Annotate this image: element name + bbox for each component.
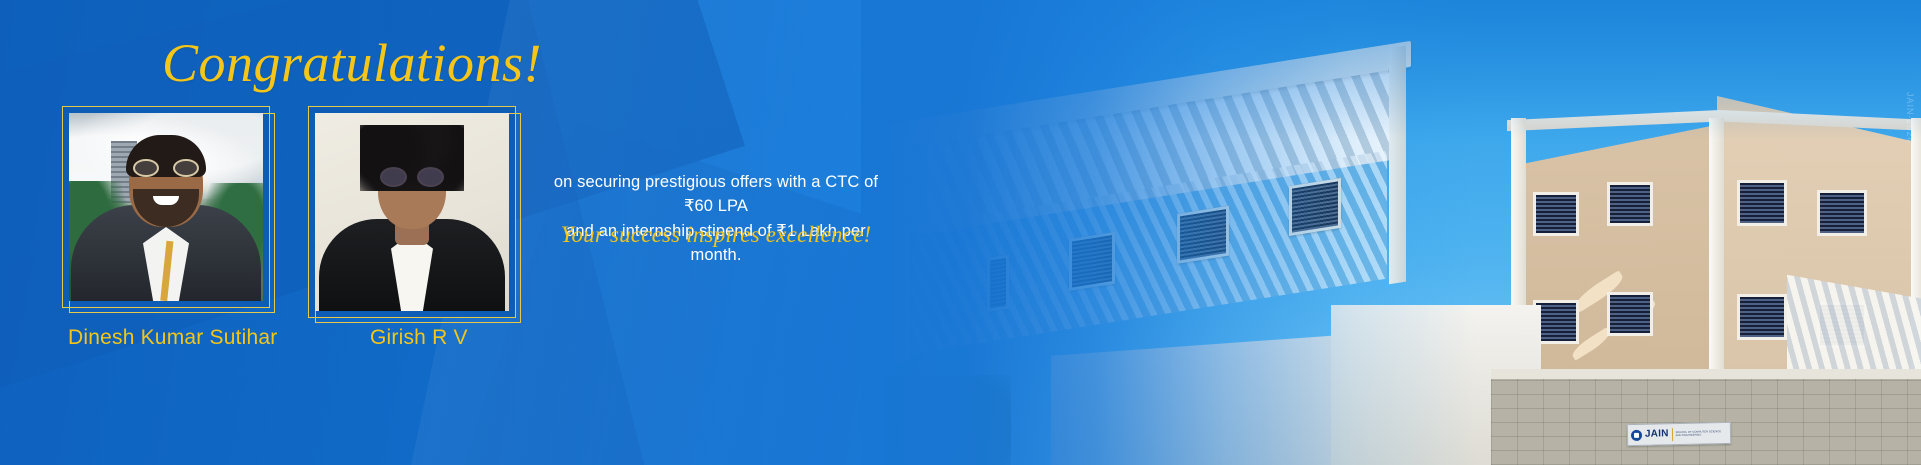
portrait-dinesh-kumar-sutihar [69,113,263,301]
honoree-name-2: Girish R V [370,326,468,350]
banner-content: Congratulations! [0,0,1921,465]
page-title: Congratulations! [162,36,542,90]
achievement-line-1: on securing prestigious offers with a CT… [540,170,892,219]
congratulations-banner: JAIN SCHOOL OF COMPUTER SCIENCE AND ENGI… [0,0,1921,465]
portrait-eyeglasses-icon [133,159,199,177]
honoree-name-1: Dinesh Kumar Sutihar [68,326,277,350]
photo-frame-girish-r-v [308,106,516,318]
photo-frame-dinesh-kumar-sutihar [62,106,270,308]
achievement-description: on securing prestigious offers with a CT… [540,170,892,268]
portrait-girish-r-v [315,113,509,311]
tagline: Your success inspires excellence! [540,222,892,248]
edge-watermark: JAIN-2024 [1905,92,1915,144]
portrait-eyeglasses-icon [380,167,444,187]
